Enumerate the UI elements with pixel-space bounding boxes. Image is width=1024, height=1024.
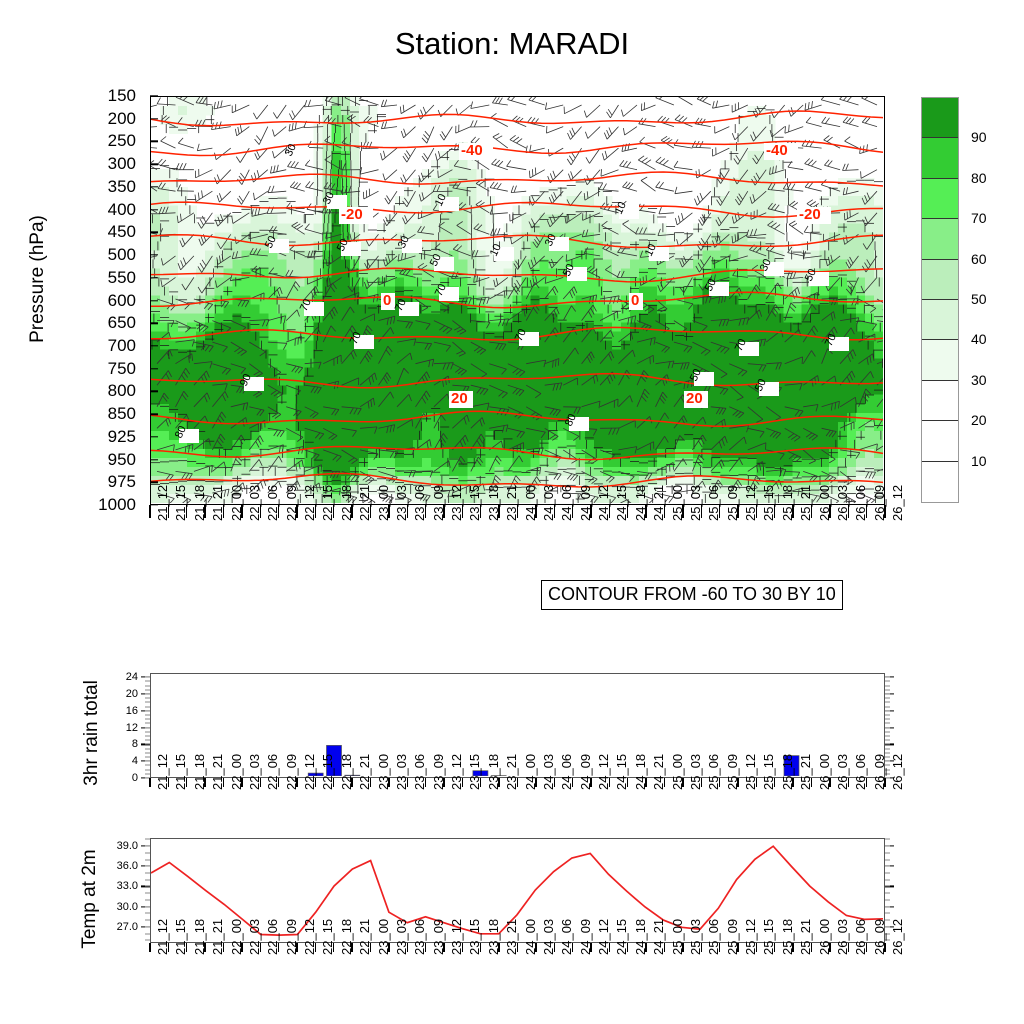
temp-minor-tick-right	[885, 839, 890, 840]
pressure-tick	[150, 232, 158, 233]
temp-minor-tick-right	[885, 933, 890, 934]
temp-minor-tick-right	[885, 859, 890, 860]
pressure-tick	[150, 118, 158, 119]
temp-minor-tick-right	[885, 873, 890, 874]
pressure-tick	[150, 323, 158, 324]
temp-tick-label: 27.0	[117, 921, 138, 933]
pressure-tick	[150, 459, 158, 460]
temp-tick-label: 36.0	[117, 860, 138, 872]
pressure-tick	[150, 504, 158, 505]
temp-minor-tick-right	[885, 899, 890, 900]
pressure-tick	[150, 163, 158, 164]
temp-minor-tick-right	[885, 886, 890, 887]
temp-tick-label: 39.0	[117, 840, 138, 852]
temp-minor-tick-right	[885, 920, 890, 921]
temp-minor-tick-right	[885, 926, 890, 927]
pressure-tick	[150, 254, 158, 255]
temp-minor-tick-right	[885, 866, 890, 867]
temp-minor-tick-right	[885, 940, 890, 941]
pressure-tick	[150, 436, 158, 437]
temp-tick-label: 30.0	[117, 901, 138, 913]
temp-minor-tick-right	[885, 879, 890, 880]
pressure-tick	[150, 300, 158, 301]
meteogram-page: Station: MARADI 150200250300350400450500…	[0, 0, 1024, 1024]
temperature-line-chart	[150, 838, 885, 943]
pressure-tick	[150, 413, 158, 414]
pressure-tick	[150, 186, 158, 187]
pressure-tick	[150, 141, 158, 142]
temp-minor-tick-right	[885, 893, 890, 894]
pressure-tick	[150, 482, 158, 483]
temp-minor-tick-right	[885, 852, 890, 853]
temp-minor-tick-right	[885, 913, 890, 914]
temp-minor-tick-right	[885, 906, 890, 907]
pressure-tick	[150, 277, 158, 278]
pressure-tick	[150, 345, 158, 346]
pressure-tick	[150, 209, 158, 210]
temp-canvas	[151, 839, 883, 941]
pressure-tick	[150, 391, 158, 392]
pressure-tick	[150, 95, 158, 96]
temp-tick-label: 33.0	[117, 880, 138, 892]
pressure-tick	[150, 368, 158, 369]
temp-minor-tick-right	[885, 846, 890, 847]
